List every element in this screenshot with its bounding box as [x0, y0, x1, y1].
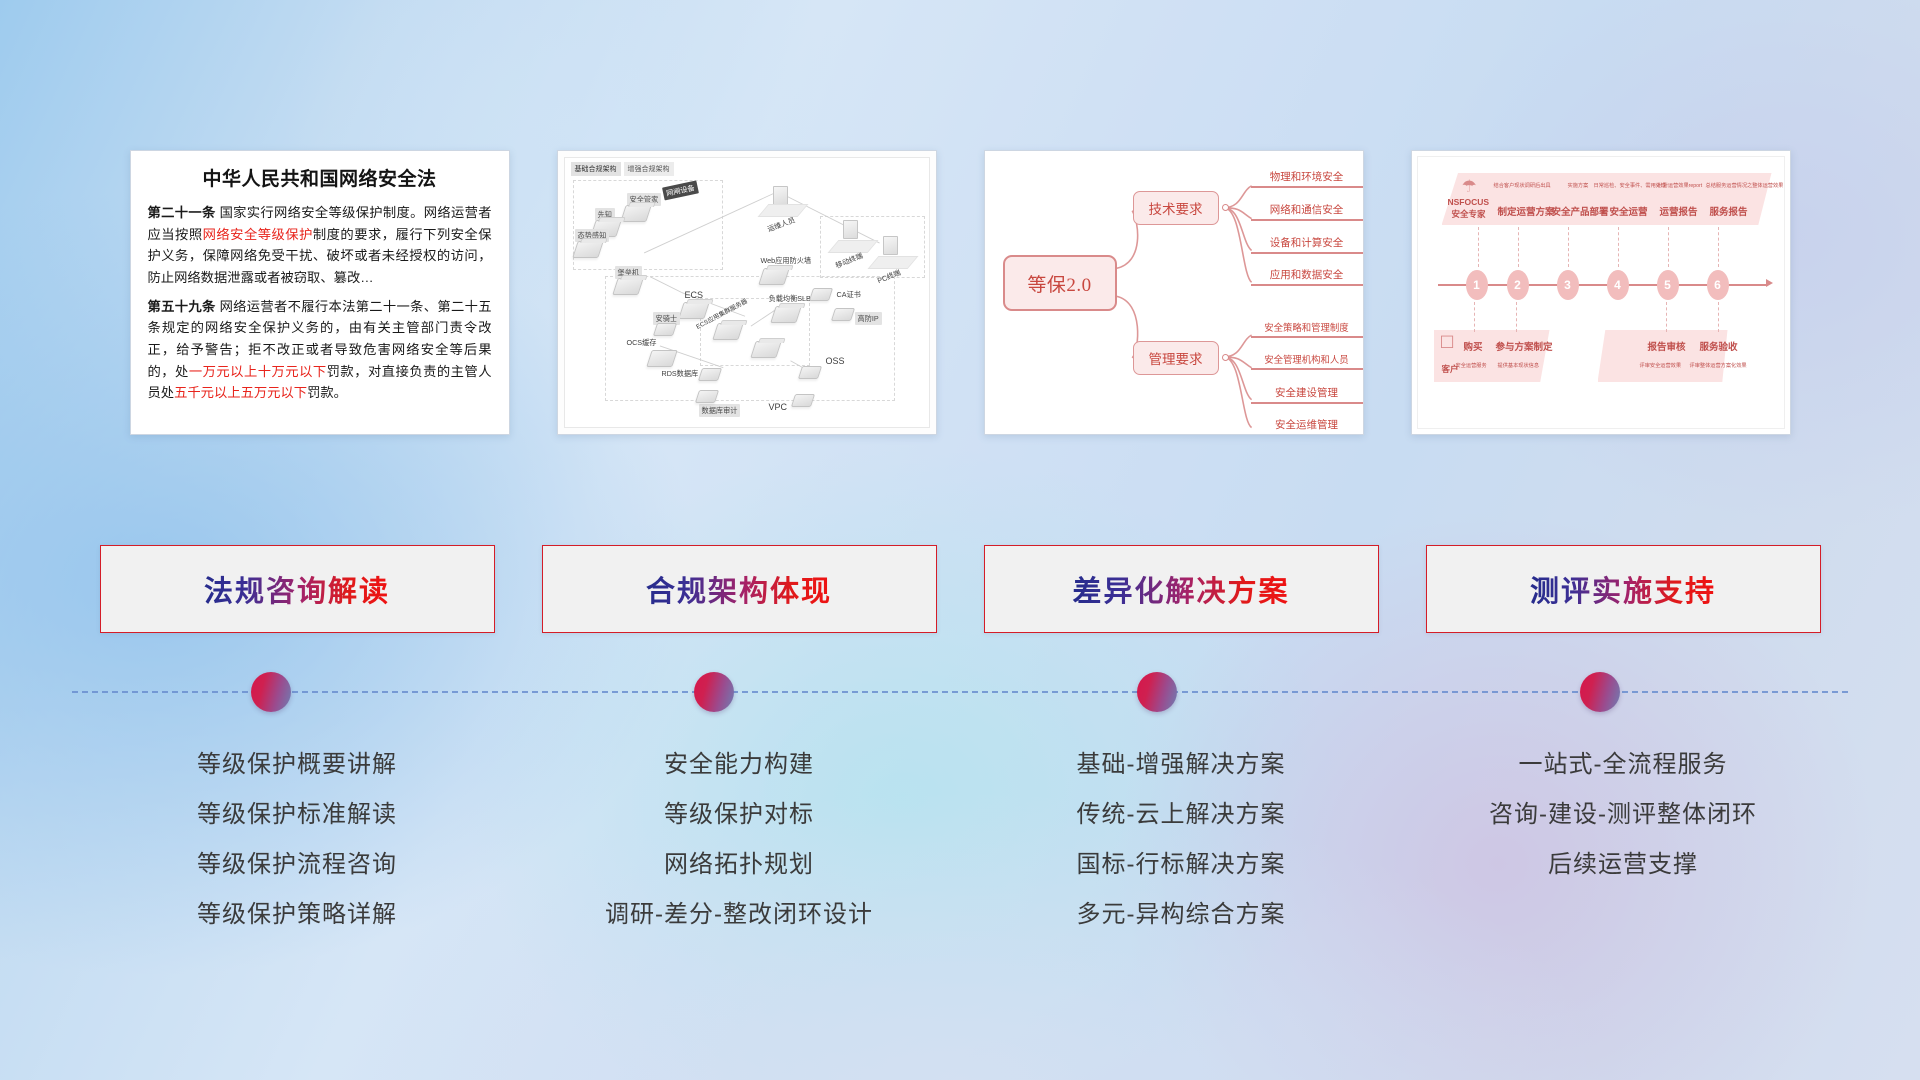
list-item: 等级保护流程咨询	[197, 840, 397, 890]
law-highlight-a: 网络安全等级保护	[203, 227, 313, 242]
roadmap-connector-b2	[1516, 302, 1517, 332]
roadmap-top-title-4: 运营报告	[1660, 204, 1698, 218]
list-item: 后续运营支撑	[1548, 840, 1698, 890]
law-article-number: 第二十一条	[148, 205, 216, 220]
headline-box-solution[interactable]: 差异化解决方案	[984, 545, 1379, 633]
mindmap-leaf-construct: 安全建设管理	[1251, 385, 1363, 404]
monitor-icon	[883, 236, 898, 255]
timeline-dot-3[interactable]	[1137, 672, 1177, 712]
preview-cards-row: 中华人民共和国网络安全法 第二十一条 国家实行网络安全等级保护制度。网络运营者应…	[0, 150, 1920, 440]
roadmap-canvas: ☂ NSFOCUS 安全专家 ☐ 客户 结合客户现状调研后出具 制定运营方案 实…	[1417, 156, 1785, 429]
roadmap-top-sub-5: 总结服务运营情况之整体运营效果	[1706, 182, 1784, 189]
roadmap-bottom-sub-2: 提供基本现状信息	[1498, 362, 1540, 369]
headline-label-regulation: 法规咨询解读	[204, 568, 390, 610]
cube-icon	[697, 368, 721, 381]
headline-box-regulation[interactable]: 法规咨询解读	[100, 545, 495, 633]
customer-person-icon: ☐	[1440, 333, 1455, 353]
mindmap-leaf-ops: 安全运维管理	[1251, 417, 1363, 435]
roadmap-connector-6	[1718, 227, 1719, 267]
roadmap-bottom-sub-3: 评审安全运营效果	[1640, 362, 1682, 369]
node-bastion-host[interactable]: 堡垒机	[615, 278, 641, 295]
timeline-dot-1[interactable]	[251, 672, 291, 712]
cube-icon	[750, 341, 782, 358]
list-item: 等级保护概要讲解	[197, 740, 397, 790]
card-dengbao-mindmap[interactable]: 等保2.0 技术要求 物理和环境安全 网络和通信安全 设备和计算安全 应用和数据…	[984, 150, 1364, 435]
mindmap-leaf-physical: 物理和环境安全	[1251, 169, 1363, 188]
node-ca-cert-label: CA证书	[837, 290, 861, 300]
node-waf[interactable]: Web应用防火墙	[761, 268, 787, 285]
detail-lists-row: 等级保护概要讲解 等级保护标准解读 等级保护流程咨询 等级保护策略详解 安全能力…	[0, 740, 1920, 960]
node-ocs-cache[interactable]: OCS缓存	[649, 350, 675, 367]
list-item: 等级保护对标	[664, 790, 814, 840]
law-highlight-c: 五千元以上五万元以下	[174, 385, 307, 400]
node-anqishi[interactable]: 安骑士	[655, 323, 675, 336]
roadmap-top-sub-2: 实施方案	[1568, 182, 1589, 189]
cube-icon	[612, 278, 644, 295]
roadmap-top-sub-3: 日常巡检、安全事件、需用处理	[1594, 182, 1667, 189]
node-db-audit[interactable]: 数据库审计	[697, 390, 717, 403]
mindmap-leaf-org: 安全管理机构和人员	[1251, 352, 1363, 370]
node-ca-cert[interactable]: CA证书	[811, 288, 831, 301]
roadmap-step-6[interactable]: 6	[1707, 270, 1729, 300]
cube-icon	[712, 323, 744, 340]
mindmap-leaf-policy: 安全策略和管理制度	[1251, 320, 1363, 338]
roadmap-step-4[interactable]: 4	[1607, 270, 1629, 300]
roadmap-bottom-title-1: 购买	[1464, 339, 1483, 353]
roadmap-bottom-title-2: 参与方案制定	[1496, 339, 1553, 353]
mindmap-branch-management[interactable]: 管理要求	[1133, 341, 1219, 375]
roadmap-connector-3	[1568, 227, 1569, 267]
list-item: 基础-增强解决方案	[1077, 740, 1286, 790]
node-oss-label: OSS	[826, 356, 845, 366]
headline-box-assessment[interactable]: 测评实施支持	[1426, 545, 1821, 633]
node-rds[interactable]: RDS数据库	[700, 368, 720, 381]
law-paragraph-21: 第二十一条 国家实行网络安全等级保护制度。网络运营者应当按照网络安全等级保护制度…	[148, 202, 492, 289]
mindmap-leaf-network: 网络和通信安全	[1251, 202, 1363, 221]
roadmap-bottom-sub-4: 评审整体运营方案化效果	[1690, 362, 1747, 369]
detail-list-solution: 基础-增强解决方案 传统-云上解决方案 国标-行标解决方案 多元-异构综合方案	[984, 740, 1379, 960]
detail-list-architecture: 安全能力构建 等级保护对标 网络拓扑规划 调研-差分-整改闭环设计	[542, 740, 937, 960]
monitor-icon	[773, 186, 788, 205]
roadmap-connector-5	[1668, 227, 1669, 267]
roadmap-step-5[interactable]: 5	[1657, 270, 1679, 300]
node-db-audit-label: 数据库审计	[699, 404, 741, 417]
list-item: 咨询-建设-测评整体闭环	[1489, 790, 1757, 840]
node-slb[interactable]: 负载均衡SLB	[773, 306, 799, 323]
roadmap-top-title-2: 安全产品部署	[1552, 204, 1609, 218]
card-compliance-architecture[interactable]: 基础合规架构 增强合规架构	[557, 150, 937, 435]
headline-label-solution: 差异化解决方案	[1072, 568, 1289, 610]
node-ops-staff[interactable]: 运维人员	[773, 186, 788, 205]
cube-icon	[808, 288, 832, 301]
list-item: 安全能力构建	[664, 740, 814, 790]
list-item: 等级保护标准解读	[197, 790, 397, 840]
card-cybersecurity-law[interactable]: 中华人民共和国网络安全法 第二十一条 国家实行网络安全等级保护制度。网络运营者应…	[130, 150, 510, 435]
mindmap-branch-technical[interactable]: 技术要求	[1133, 191, 1219, 225]
cube-icon	[646, 350, 678, 367]
roadmap-axis-arrow	[1766, 279, 1773, 287]
node-anti-ddos-ip-label: 高防IP	[855, 312, 882, 325]
law-title: 中华人民共和国网络安全法	[148, 164, 492, 191]
node-rds-label: RDS数据库	[662, 369, 699, 379]
roadmap-top-title-1: 制定运营方案	[1498, 204, 1555, 218]
timeline-dot-4[interactable]	[1580, 672, 1620, 712]
roadmap-bottom-sub-1: 安全运营服务	[1456, 362, 1487, 369]
law-paragraph-59: 第五十九条 网络运营者不履行本法第二十一条、第二十五条规定的网络安全保护义务的，…	[148, 296, 492, 404]
mindmap-root-node[interactable]: 等保2.0	[1003, 255, 1117, 311]
node-security-butler[interactable]: 安全管家	[623, 205, 649, 222]
node-situational-awareness[interactable]: 态势感知	[575, 241, 601, 258]
node-vpc-label: VPC	[769, 402, 788, 412]
headline-row: 法规咨询解读 合规架构体现 差异化解决方案 测评实施支持	[0, 545, 1920, 635]
roadmap-top-title-5: 服务报告	[1710, 204, 1748, 218]
roadmap-connector-b1	[1474, 302, 1475, 332]
node-vpc[interactable]: VPC	[793, 394, 813, 407]
node-pc-terminal[interactable]: PC终端	[883, 236, 898, 255]
node-ecs-cluster[interactable]: ECS应用集群服务器	[715, 323, 741, 340]
roadmap-step-1[interactable]: 1	[1466, 270, 1488, 300]
list-item: 国标-行标解决方案	[1077, 840, 1286, 890]
node-ocs-cache-label: OCS缓存	[627, 338, 657, 348]
cube-icon	[790, 394, 814, 407]
list-item: 网络拓扑规划	[664, 840, 814, 890]
roadmap-connector-4	[1618, 227, 1619, 267]
node-anti-ddos-ip[interactable]: 高防IP	[833, 308, 853, 321]
list-item: 传统-云上解决方案	[1077, 790, 1286, 840]
roadmap-step-2[interactable]: 2	[1507, 270, 1529, 300]
list-item: 等级保护策略详解	[197, 890, 397, 940]
headline-box-architecture[interactable]: 合规架构体现	[542, 545, 937, 633]
roadmap-connector-1	[1478, 227, 1479, 267]
roadmap-connector-b3	[1666, 302, 1667, 332]
law-highlight-b: 一万元以上十万元以下	[189, 364, 327, 379]
law-article-number-2: 第五十九条	[148, 299, 216, 314]
detail-list-regulation: 等级保护概要讲解 等级保护标准解读 等级保护流程咨询 等级保护策略详解	[100, 740, 495, 960]
card-nsfocus-service-roadmap[interactable]: ☂ NSFOCUS 安全专家 ☐ 客户 结合客户现状调研后出具 制定运营方案 实…	[1411, 150, 1791, 435]
cube-icon	[758, 268, 790, 285]
roadmap-connector-b4	[1718, 302, 1719, 332]
headline-label-assessment: 测评实施支持	[1530, 568, 1716, 610]
roadmap-bottom-title-3: 报告审核	[1648, 339, 1686, 353]
mindmap-leaf-device: 设备和计算安全	[1251, 235, 1363, 254]
timeline-dot-2[interactable]	[694, 672, 734, 712]
node-ecs-cluster-2[interactable]	[753, 341, 779, 358]
timeline	[0, 667, 1920, 717]
mindmap-collapse-dot-technical[interactable]	[1222, 204, 1229, 211]
roadmap-connector-2	[1518, 227, 1519, 267]
list-item: 多元-异构综合方案	[1077, 890, 1286, 940]
detail-list-assessment: 一站式-全流程服务 咨询-建设-测评整体闭环 后续运营支撑	[1426, 740, 1821, 960]
cube-icon	[770, 306, 802, 323]
roadmap-top-title-3: 安全运营	[1610, 204, 1648, 218]
architecture-canvas: 基础合规架构 增强合规架构	[564, 157, 930, 428]
cube-icon	[797, 366, 821, 379]
roadmap-top-sub-1: 结合客户现状调研后出具	[1494, 182, 1551, 189]
list-item: 调研-差分-整改闭环设计	[605, 890, 873, 940]
roadmap-top-sub-4: 针对运营效果report	[1658, 182, 1703, 189]
expert-person-icon: ☂	[1462, 177, 1477, 197]
roadmap-expert-line2: 安全专家	[1452, 208, 1486, 220]
list-item: 一站式-全流程服务	[1519, 740, 1728, 790]
roadmap-bottom-title-4: 服务验收	[1700, 339, 1738, 353]
cube-icon	[652, 323, 676, 336]
law-text-e: 罚款。	[307, 385, 347, 400]
roadmap-band-customer-right	[1598, 330, 1728, 382]
monitor-icon	[843, 220, 858, 239]
mindmap-leaf-application: 应用和数据安全	[1251, 267, 1363, 286]
roadmap-step-3[interactable]: 3	[1557, 270, 1579, 300]
cube-icon	[694, 390, 718, 403]
node-ecs[interactable]: ECS	[681, 302, 707, 319]
cube-icon	[830, 308, 854, 321]
roadmap-expert-line1: NSFOCUS	[1448, 197, 1490, 207]
node-oss[interactable]: OSS	[800, 366, 820, 379]
node-mobile-terminal[interactable]: 移动终端	[843, 220, 858, 239]
cube-icon	[572, 241, 604, 258]
mindmap-collapse-dot-management[interactable]	[1222, 354, 1229, 361]
headline-label-architecture: 合规架构体现	[646, 568, 832, 610]
